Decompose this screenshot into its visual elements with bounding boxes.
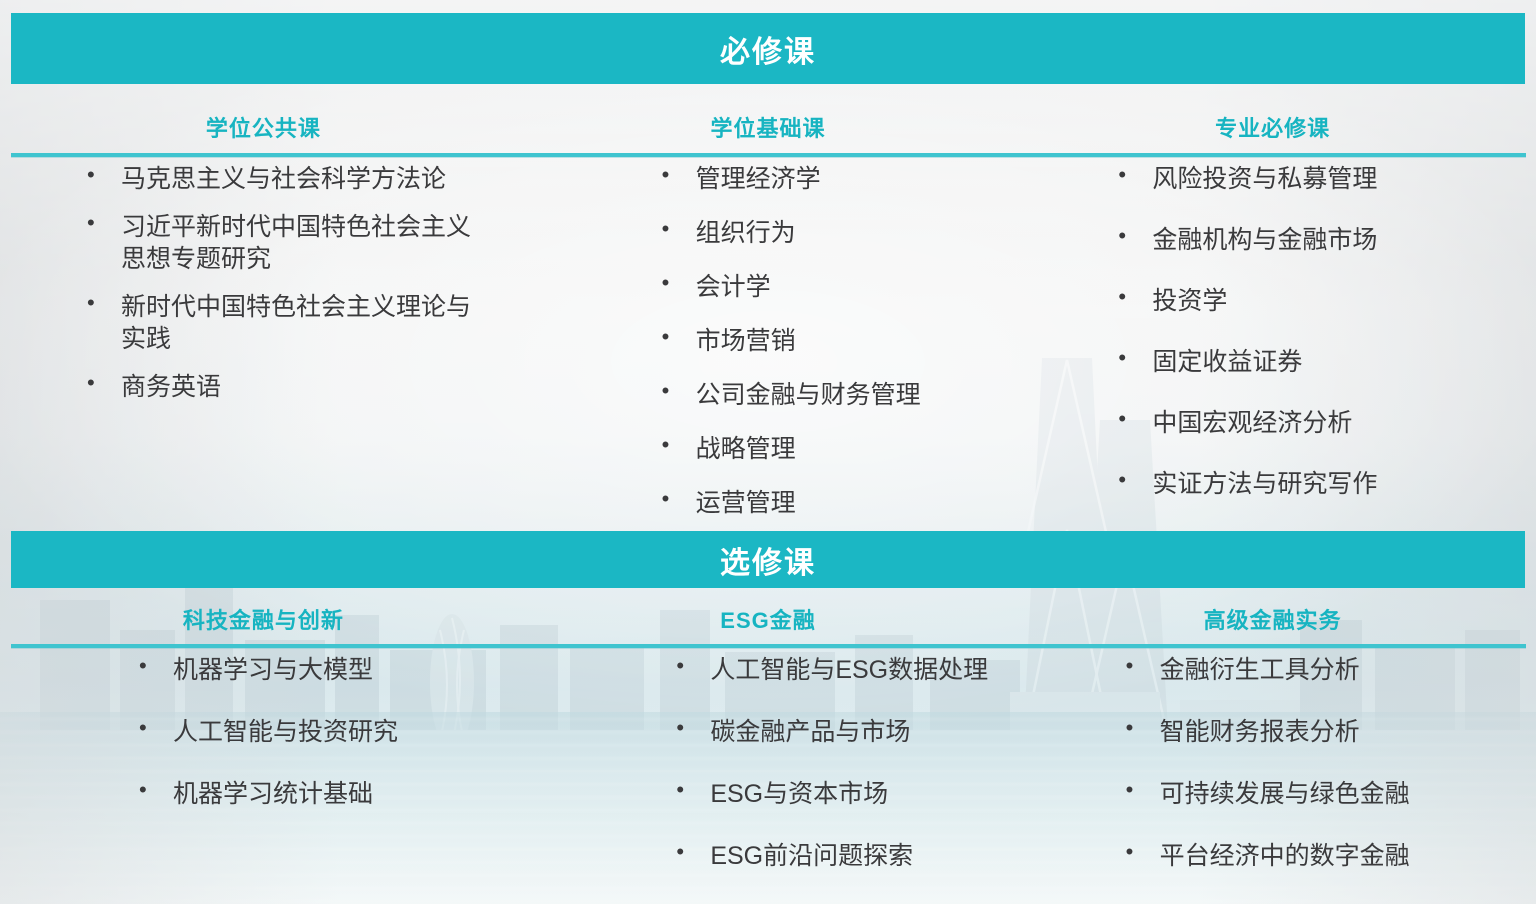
list-item: 人工智能与ESG数据处理 <box>668 654 1065 686</box>
slide-content: 必修课 学位公共课 学位基础课 专业必修课 马克思主义与社会科学方法论 习近平新… <box>0 0 1536 904</box>
course-column-advanced-finance-practice: 金融衍生工具分析 智能财务报表分析 可持续发展与绿色金融 平台经济中的数字金融 <box>1076 654 1525 902</box>
list-item: 战略管理 <box>654 433 1059 465</box>
column-heading-major-required: 专业必修课 <box>1020 104 1525 150</box>
column-heading-degree-foundation: 学位基础课 <box>516 104 1021 150</box>
list-item: 可持续发展与绿色金融 <box>1118 778 1515 810</box>
list-item: 会计学 <box>654 271 1059 303</box>
list-item: 碳金融产品与市场 <box>668 716 1065 748</box>
list-item: 马克思主义与社会科学方法论 <box>79 163 484 195</box>
course-list-major-required: 风险投资与私募管理 金融机构与金融市场 投资学 固定收益证券 中国宏观经济分析 … <box>1110 163 1515 500</box>
list-item: ESG前沿问题探索 <box>668 840 1065 872</box>
list-item: 金融衍生工具分析 <box>1118 654 1515 686</box>
list-item: 实证方法与研究写作 <box>1110 468 1515 500</box>
list-item: 习近平新时代中国特色社会主义思想专题研究 <box>79 211 484 275</box>
list-item: ESG与资本市场 <box>668 778 1065 810</box>
column-headings-required: 学位公共课 学位基础课 专业必修课 <box>11 104 1525 150</box>
list-item: 机器学习统计基础 <box>131 778 528 810</box>
list-item: 市场营销 <box>654 325 1059 357</box>
list-item: 平台经济中的数字金融 <box>1118 840 1515 872</box>
column-headings-elective: 科技金融与创新 ESG金融 高级金融实务 <box>11 596 1525 642</box>
course-list-degree-foundation: 管理经济学 组织行为 会计学 市场营销 公司金融与财务管理 战略管理 运营管理 … <box>654 163 1059 573</box>
list-item: 公司金融与财务管理 <box>654 379 1059 411</box>
list-item: 组织行为 <box>654 217 1059 249</box>
section-banner-required: 必修课 <box>11 13 1525 84</box>
list-item: 风险投资与私募管理 <box>1110 163 1515 195</box>
slide-canvas: 必修课 学位公共课 学位基础课 专业必修课 马克思主义与社会科学方法论 习近平新… <box>0 0 1536 904</box>
list-item: 中国宏观经济分析 <box>1110 407 1515 439</box>
course-list-degree-public: 马克思主义与社会科学方法论 习近平新时代中国特色社会主义思想专题研究 新时代中国… <box>79 163 484 403</box>
course-list-advanced-finance-practice: 金融衍生工具分析 智能财务报表分析 可持续发展与绿色金融 平台经济中的数字金融 <box>1118 654 1515 872</box>
list-item: 智能财务报表分析 <box>1118 716 1515 748</box>
column-heading-esg-finance: ESG金融 <box>516 596 1021 642</box>
list-item: 投资学 <box>1110 285 1515 317</box>
section-banner-elective: 选修课 <box>11 531 1525 588</box>
course-column-fintech-innovation: 机器学习与大模型 人工智能与投资研究 机器学习统计基础 <box>11 654 558 902</box>
list-item: 运营管理 <box>654 487 1059 519</box>
course-list-esg-finance: 人工智能与ESG数据处理 碳金融产品与市场 ESG与资本市场 ESG前沿问题探索 <box>668 654 1065 872</box>
divider-required <box>11 153 1526 157</box>
list-item: 固定收益证券 <box>1110 346 1515 378</box>
list-item: 新时代中国特色社会主义理论与实践 <box>79 291 484 355</box>
course-column-esg-finance: 人工智能与ESG数据处理 碳金融产品与市场 ESG与资本市场 ESG前沿问题探索 <box>558 654 1075 902</box>
column-heading-fintech-innovation: 科技金融与创新 <box>11 596 516 642</box>
course-columns-elective: 机器学习与大模型 人工智能与投资研究 机器学习统计基础 人工智能与ESG数据处理… <box>11 654 1525 902</box>
list-item: 商务英语 <box>79 371 484 403</box>
column-heading-degree-public: 学位公共课 <box>11 104 516 150</box>
list-item: 人工智能与投资研究 <box>131 716 528 748</box>
list-item: 机器学习与大模型 <box>131 654 528 686</box>
divider-elective <box>11 644 1526 648</box>
list-item: 金融机构与金融市场 <box>1110 224 1515 256</box>
column-heading-advanced-finance-practice: 高级金融实务 <box>1020 596 1525 642</box>
list-item: 管理经济学 <box>654 163 1059 195</box>
course-list-fintech-innovation: 机器学习与大模型 人工智能与投资研究 机器学习统计基础 <box>131 654 528 810</box>
